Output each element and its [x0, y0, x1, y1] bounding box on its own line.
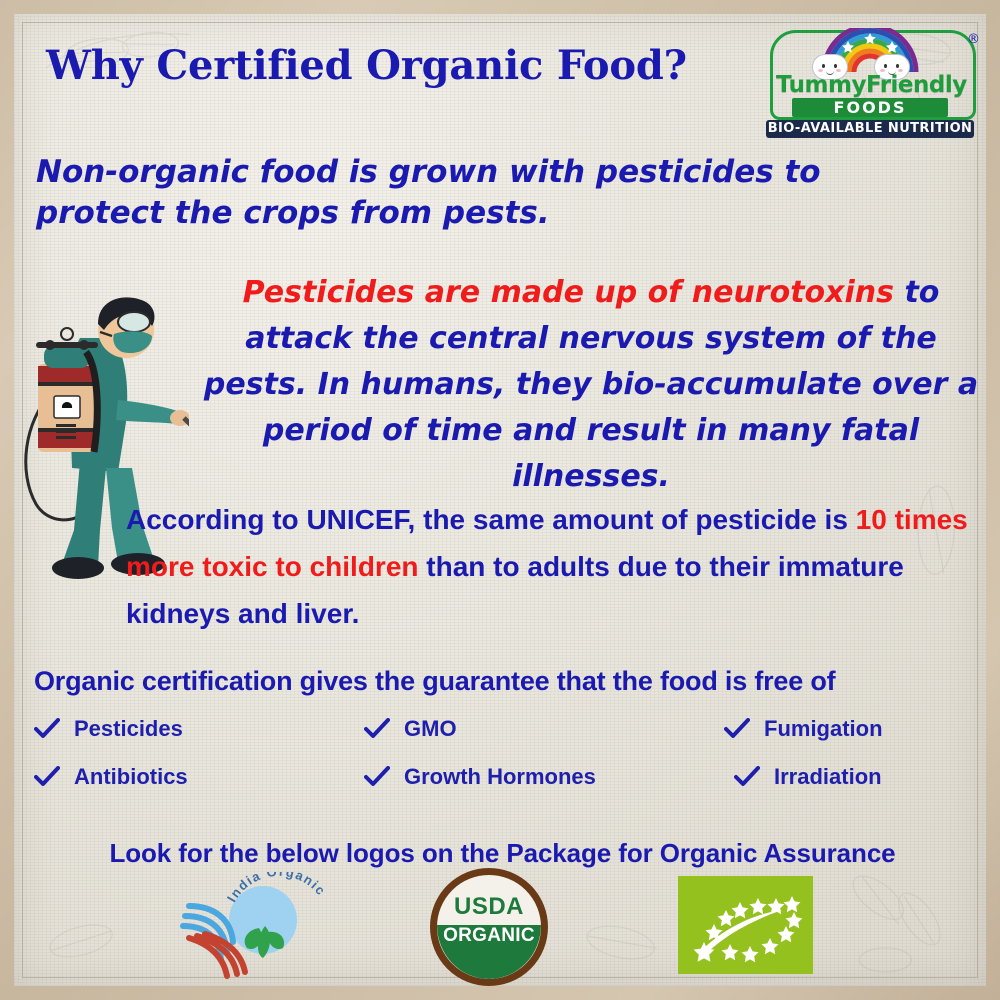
- usda-label-bottom: ORGANIC: [437, 925, 541, 947]
- checklist-item-gmo: GMO: [364, 716, 457, 742]
- certification-checklist: Pesticides GMO Fumigation Antibiotics: [34, 712, 964, 806]
- pesticides-paragraph: Pesticides are made up of neurotoxins to…: [196, 270, 986, 500]
- checklist-label: Fumigation: [764, 716, 883, 742]
- intro-paragraph: Non-organic food is grown with pesticide…: [36, 152, 946, 234]
- checkmark-icon: [364, 766, 390, 788]
- checkmark-icon: [34, 718, 60, 740]
- certification-logos-row: India Organic USDA ORGANIC: [30, 872, 970, 984]
- brand-tagline: BIO-AVAILABLE NUTRITION: [766, 120, 974, 138]
- checklist-label: GMO: [404, 716, 457, 742]
- checklist-item-pesticides: Pesticides: [34, 716, 183, 742]
- checklist-label: Irradiation: [774, 764, 882, 790]
- brand-subtitle: FOODS: [792, 98, 948, 117]
- checkmark-icon: [724, 718, 750, 740]
- page-title: Why Certified Organic Food?: [46, 42, 746, 89]
- brand-logo: ® TummyFriendly FOODS BIO-AVAILABLE NUTR…: [766, 28, 982, 136]
- brand-name: TummyFriendly: [776, 72, 964, 98]
- checklist-item-fumigation: Fumigation: [724, 716, 883, 742]
- usda-ring: USDA ORGANIC: [430, 868, 548, 986]
- pesticides-highlight: Pesticides are made up of neurotoxins: [243, 275, 894, 310]
- unicef-paragraph: According to UNICEF, the same amount of …: [126, 496, 986, 637]
- checklist-item-antibiotics: Antibiotics: [34, 764, 188, 790]
- india-organic-logo: India Organic: [175, 872, 345, 982]
- checkmark-icon: [364, 718, 390, 740]
- eu-organic-leaf-stars: [678, 876, 813, 974]
- certification-heading: Organic certification gives the guarante…: [34, 666, 974, 697]
- checklist-label: Growth Hormones: [404, 764, 596, 790]
- checklist-item-growth-hormones: Growth Hormones: [364, 764, 596, 790]
- checklist-label: Antibiotics: [74, 764, 188, 790]
- checkmark-icon: [34, 766, 60, 788]
- checklist-item-irradiation: Irradiation: [734, 764, 882, 790]
- eu-organic-logo: [678, 876, 813, 974]
- infographic-poster: Why Certified Organic Food?: [0, 0, 1000, 1000]
- checklist-label: Pesticides: [74, 716, 183, 742]
- logos-heading: Look for the below logos on the Package …: [30, 838, 975, 869]
- usda-organic-logo: USDA ORGANIC: [430, 868, 548, 986]
- checkmark-icon: [734, 766, 760, 788]
- usda-label-top: USDA: [437, 893, 541, 921]
- unicef-part1: According to UNICEF, the same amount of …: [126, 504, 856, 535]
- registered-trademark-icon: ®: [967, 32, 980, 47]
